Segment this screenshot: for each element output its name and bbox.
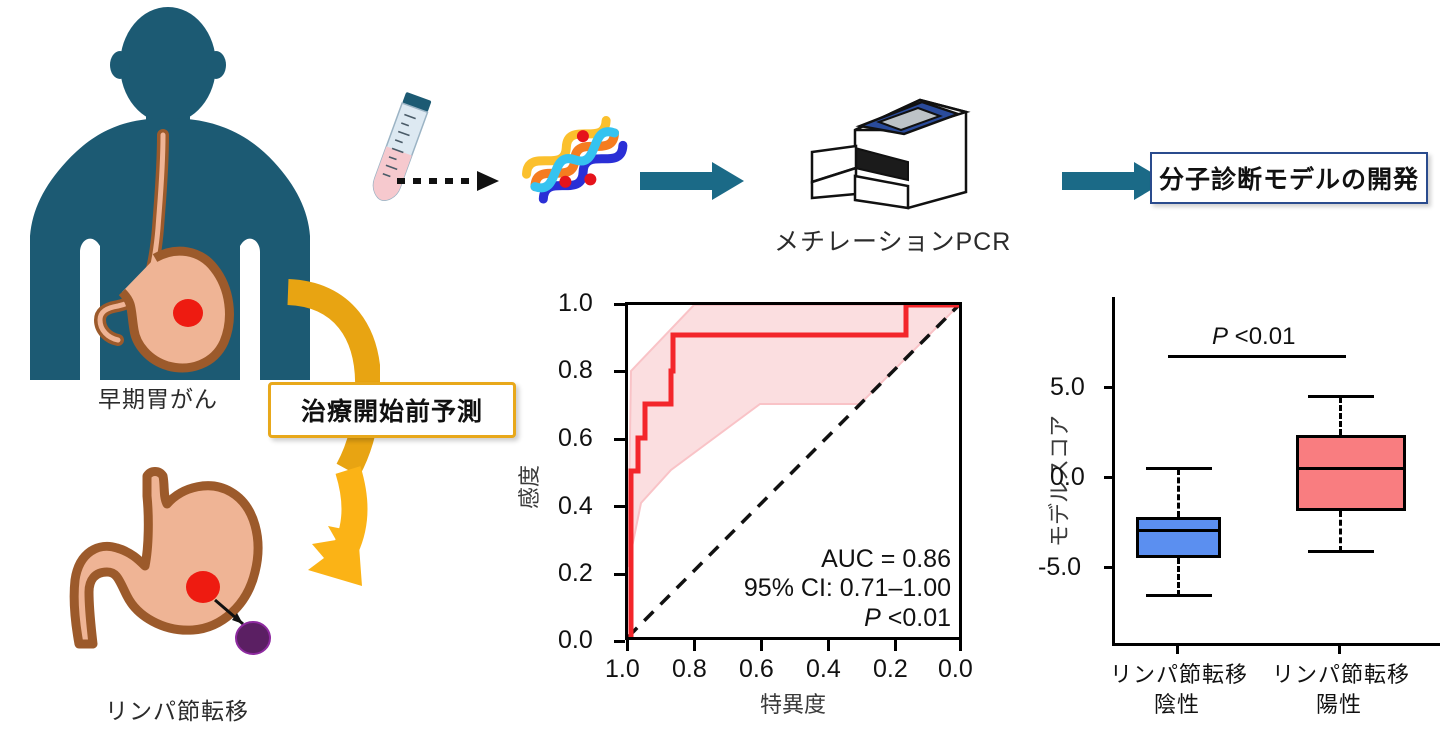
boxplot-category-positive-line2: 陽性 xyxy=(1316,687,1362,719)
boxplot-significance-line xyxy=(1168,355,1346,358)
roc-y-axis-title: 感度 xyxy=(512,465,544,509)
roc-x-axis-title: 特異度 xyxy=(760,687,826,719)
boxplot-y-tick-5.0: 5.0 xyxy=(1050,373,1085,402)
boxplot-x-tick-mark xyxy=(1176,643,1179,654)
boxplot-category-negative-line2: 陰性 xyxy=(1154,687,1200,719)
label-early-gastric-cancer: 早期胃がん xyxy=(98,380,218,414)
roc-x-tick-mark xyxy=(827,640,830,651)
boxplot-category-negative-line1: リンパ節転移 xyxy=(1110,657,1248,689)
roc-y-tick-mark xyxy=(614,640,625,643)
label-lymph-node-metastasis: リンパ節転移 xyxy=(105,692,249,726)
roc-x-tick-0.8: 0.8 xyxy=(672,655,707,684)
roc-annotations: AUC = 0.86 95% CI: 0.71–1.00 P <0.01 xyxy=(744,545,951,634)
roc-y-tick-0.4: 0.4 xyxy=(558,492,593,521)
roc-x-tick-mark xyxy=(693,640,696,651)
roc-y-tick-mark xyxy=(614,573,625,576)
roc-plot-area: AUC = 0.86 95% CI: 0.71–1.00 P <0.01 xyxy=(625,302,962,640)
roc-ci-text: 95% CI: 0.71–1.00 xyxy=(744,574,951,604)
roc-curve-chart: 感度 1.0 0.8 0.6 0.4 0.2 0.0 xyxy=(520,285,990,705)
roc-x-tick-0.6: 0.6 xyxy=(739,655,774,684)
boxplot-y-tick-mark xyxy=(1104,566,1115,569)
boxplot-significance-label: P <0.01 xyxy=(1212,323,1295,351)
boxplot-y-axis-line xyxy=(1112,297,1115,645)
boxplot-box-negative xyxy=(1136,517,1221,558)
roc-x-tick-1.0: 1.0 xyxy=(605,655,640,684)
boxplot-pvalue-value: <0.01 xyxy=(1228,323,1295,350)
graphical-abstract-canvas: 早期胃がん リンパ節転移 治療開始前予測 xyxy=(0,0,1440,742)
roc-pvalue-value: <0.01 xyxy=(881,604,951,632)
roc-y-tick-mark xyxy=(614,370,625,373)
boxplot-x-tick-mark xyxy=(1338,643,1341,654)
roc-y-tick-1.0: 1.0 xyxy=(558,289,593,318)
boxplot-chart: モデルスコア 5.0 0.0 -5.0 P <0.01 xyxy=(1020,285,1440,705)
roc-x-tick-0.0: 0.0 xyxy=(938,655,973,684)
roc-y-tick-0.0: 0.0 xyxy=(558,626,593,655)
boxplot-y-tick-mark xyxy=(1104,476,1115,479)
boxplot-whisker-lower xyxy=(1339,511,1342,552)
boxplot-category-positive-line1: リンパ節転移 xyxy=(1272,657,1410,689)
roc-y-tick-0.2: 0.2 xyxy=(558,559,593,588)
roc-pvalue-symbol: P xyxy=(864,604,881,632)
boxplot-box-positive xyxy=(1296,435,1406,511)
label-methylation-pcr: メチレーションPCR xyxy=(774,222,1011,258)
boxplot-median-negative xyxy=(1136,529,1221,532)
boxplot-whisker-upper xyxy=(1177,469,1180,517)
boxplot-y-tick-mark xyxy=(1104,386,1115,389)
pcr-thermocycler xyxy=(800,90,990,220)
dna-double-helix-methylated xyxy=(520,115,630,210)
teal-arrow-dna-to-pcr xyxy=(640,160,745,202)
roc-pvalue-text: P <0.01 xyxy=(744,604,951,634)
dotted-arrow-tube-to-dna xyxy=(395,168,505,194)
boxplot-y-tick-0.0: 0.0 xyxy=(1050,463,1085,492)
roc-x-tick-0.2: 0.2 xyxy=(873,655,908,684)
roc-auc-text: AUC = 0.86 xyxy=(744,545,951,575)
boxplot-y-tick--5.0: -5.0 xyxy=(1038,553,1081,582)
roc-x-tick-mark xyxy=(760,640,763,651)
roc-x-tick-mark xyxy=(894,640,897,651)
model-development-label: 分子診断モデルの開発 xyxy=(1159,160,1419,196)
boxplot-pvalue-symbol: P xyxy=(1212,323,1228,350)
boxplot-whisker-lower xyxy=(1177,558,1180,596)
roc-x-tick-mark xyxy=(626,640,629,651)
pretreatment-prediction-label: 治療開始前予測 xyxy=(301,392,483,428)
roc-x-tick-0.4: 0.4 xyxy=(806,655,841,684)
roc-ci-band xyxy=(628,305,959,567)
boxplot-median-positive xyxy=(1296,467,1406,470)
roc-y-tick-0.8: 0.8 xyxy=(558,356,593,385)
pretreatment-prediction-box: 治療開始前予測 xyxy=(268,382,516,438)
boxplot-x-axis-line xyxy=(1112,643,1440,646)
roc-x-tick-mark xyxy=(959,640,962,651)
roc-y-tick-0.6: 0.6 xyxy=(558,424,593,453)
roc-y-tick-mark xyxy=(614,303,625,306)
roc-y-tick-mark xyxy=(614,438,625,441)
boxplot-whisker-upper xyxy=(1339,397,1342,435)
boxplot-whisker-cap-lower xyxy=(1146,594,1212,597)
boxplot-whisker-cap-lower xyxy=(1308,550,1374,553)
model-development-box: 分子診断モデルの開発 xyxy=(1150,152,1428,204)
roc-y-tick-mark xyxy=(614,505,625,508)
